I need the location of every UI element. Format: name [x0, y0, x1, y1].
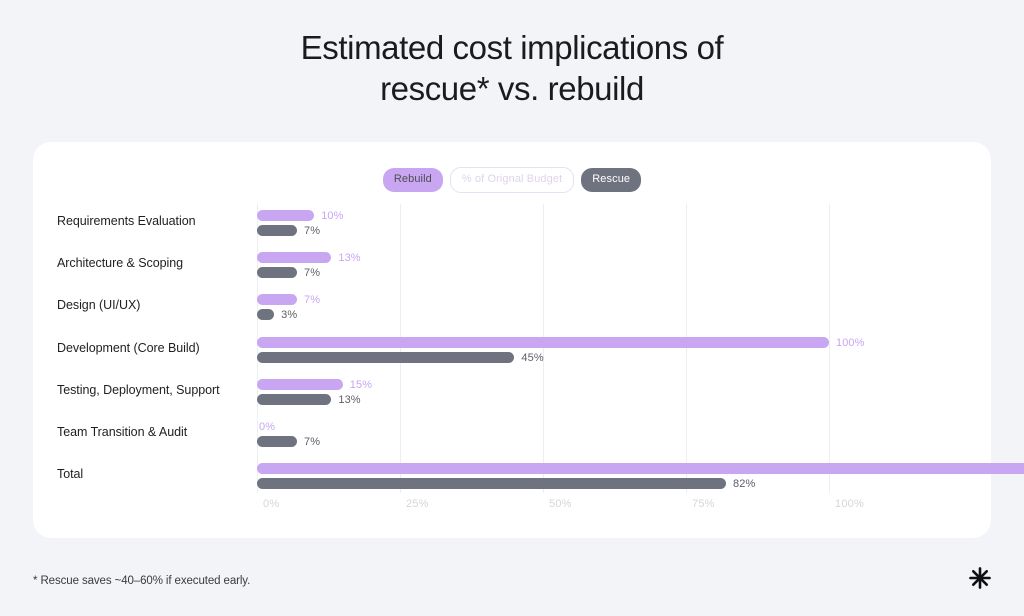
category-label: Total	[57, 467, 238, 481]
gridline-75	[686, 204, 687, 493]
x-tick-label: 50%	[549, 498, 572, 510]
title-line-2: rescue* vs. rebuild	[0, 68, 1024, 109]
bar-value-label: 7%	[304, 437, 320, 448]
legend-item-rescue[interactable]: Rescue	[581, 168, 641, 192]
x-tick-label: 0%	[263, 498, 279, 510]
category-label: Requirements Evaluation	[57, 214, 238, 228]
x-tick-label: 25%	[406, 498, 429, 510]
category-label: Team Transition & Audit	[57, 425, 238, 439]
legend-item-axis-title[interactable]: % of Orignal Budget	[450, 167, 574, 193]
bar-rebuild[interactable]	[257, 210, 314, 221]
x-tick-label: 75%	[692, 498, 715, 510]
bar-rebuild[interactable]	[257, 463, 1024, 474]
chart-plot-area: Requirements EvaluationArchitecture & Sc…	[33, 204, 991, 538]
bar-value-label: 10%	[321, 211, 343, 222]
bar-rescue[interactable]	[257, 267, 297, 278]
footnote: * Rescue saves ~40–60% if executed early…	[33, 575, 250, 587]
x-tick-label: 100%	[835, 498, 864, 510]
category-label: Testing, Deployment, Support	[57, 383, 238, 397]
bar-value-label: 100%	[836, 338, 865, 349]
bar-value-label: 13%	[338, 253, 360, 264]
asterisk-logo-icon	[967, 565, 993, 591]
bar-rescue[interactable]	[257, 478, 726, 489]
bar-value-label: 45%	[521, 353, 543, 364]
category-label: Development (Core Build)	[57, 341, 238, 355]
value-axis-grid: 0%25%50%75%100%10%7%13%7%7%3%100%45%15%1…	[257, 204, 991, 522]
bar-rebuild[interactable]	[257, 252, 331, 263]
legend-item-rebuild[interactable]: Rebuild	[383, 168, 443, 192]
gridline-25	[400, 204, 401, 493]
category-label: Design (UI/UX)	[57, 298, 238, 312]
bar-rebuild[interactable]	[257, 379, 343, 390]
bar-rescue[interactable]	[257, 436, 297, 447]
gridline-0	[257, 204, 258, 493]
bar-value-label: 7%	[304, 268, 320, 279]
page-title: Estimated cost implications of rescue* v…	[0, 0, 1024, 109]
bar-value-label: 3%	[281, 310, 297, 321]
bar-rescue[interactable]	[257, 225, 297, 236]
bar-value-label: 82%	[733, 479, 755, 490]
title-line-1: Estimated cost implications of	[0, 27, 1024, 68]
bar-rescue[interactable]	[257, 394, 331, 405]
chart-legend: Rebuild % of Orignal Budget Rescue	[33, 167, 991, 193]
category-label: Architecture & Scoping	[57, 256, 238, 270]
bar-rescue[interactable]	[257, 309, 274, 320]
bar-rebuild[interactable]	[257, 294, 297, 305]
gridline-50	[543, 204, 544, 493]
bar-value-label: 7%	[304, 295, 320, 306]
gridline-100	[829, 204, 830, 493]
bar-value-label: 13%	[338, 395, 360, 406]
bar-value-label: 15%	[350, 380, 372, 391]
bar-value-label: 0%	[259, 422, 275, 433]
bar-rebuild[interactable]	[257, 337, 829, 348]
bar-rescue[interactable]	[257, 352, 514, 363]
bar-value-label: 7%	[304, 226, 320, 237]
chart-card: Rebuild % of Orignal Budget Rescue Requi…	[33, 142, 991, 538]
